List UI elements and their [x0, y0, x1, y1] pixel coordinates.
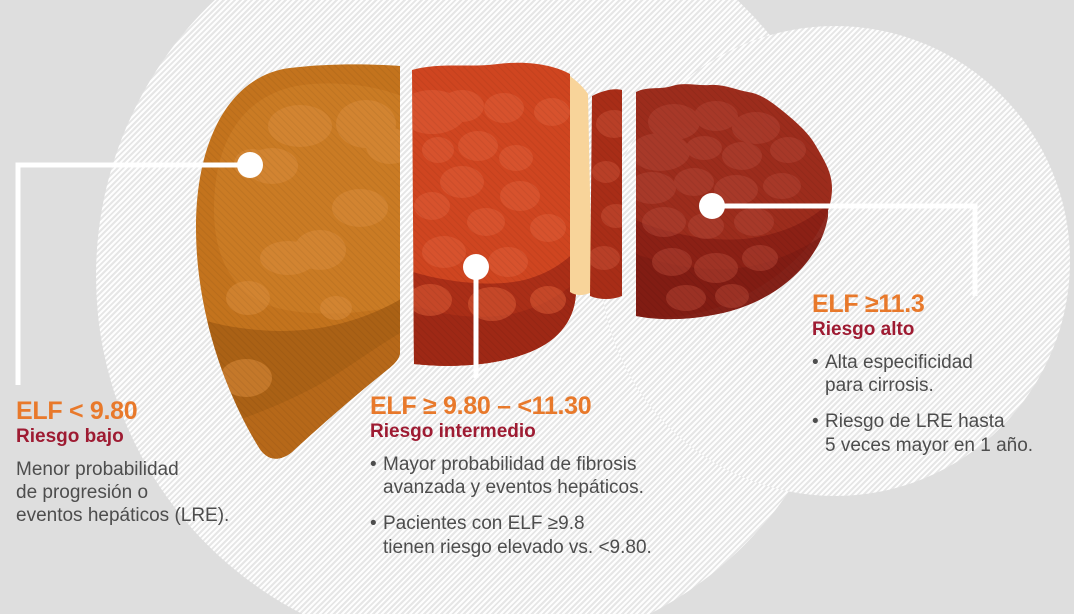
bullet-marker-icon: • — [370, 453, 383, 499]
elf-threshold-high: ELF ≥11.3 — [812, 291, 1033, 317]
infographic-canvas: ELF < 9.80 Riesgo bajo Menor probabilida… — [0, 0, 1074, 614]
list-item-line: para cirrosis. — [825, 374, 973, 397]
risk-label-high: Riesgo alto — [812, 318, 1033, 342]
callout-bullets-intermediate: • Mayor probabilidad de fibrosis avanzad… — [370, 453, 652, 559]
risk-label-intermediate: Riesgo intermedio — [370, 420, 652, 444]
list-item-line: 5 veces mayor en 1 año. — [825, 434, 1033, 457]
callout-body-low-line-2: de progresión o — [16, 482, 148, 503]
list-item: • Riesgo de LRE hasta 5 veces mayor en 1… — [812, 410, 1033, 456]
list-item-text: Alta especificidad para cirrosis. — [825, 351, 973, 397]
liver-segment-intermediate-strip — [585, 80, 632, 310]
list-item: • Alta especificidad para cirrosis. — [812, 351, 1033, 397]
callout-body-low: Menor probabilidad de progresión o event… — [16, 458, 229, 528]
elf-threshold-low: ELF < 9.80 — [16, 398, 229, 424]
callout-high-risk: ELF ≥11.3 Riesgo alto • Alta especificid… — [812, 291, 1033, 457]
callout-body-low-line-1: Menor probabilidad — [16, 459, 179, 480]
list-item-text: Riesgo de LRE hasta 5 veces mayor en 1 a… — [825, 410, 1033, 456]
callout-low-risk: ELF < 9.80 Riesgo bajo Menor probabilida… — [16, 398, 229, 528]
bullet-marker-icon: • — [370, 512, 383, 558]
list-item-line: tienen riesgo elevado vs. <9.80. — [383, 536, 652, 559]
callout-body-low-line-3: eventos hepáticos (LRE). — [16, 505, 229, 526]
callout-bullets-high: • Alta especificidad para cirrosis. • Ri… — [812, 351, 1033, 457]
list-item-text: Pacientes con ELF ≥9.8 tienen riesgo ele… — [383, 512, 652, 558]
list-item: • Mayor probabilidad de fibrosis avanzad… — [370, 453, 652, 499]
list-item-text: Mayor probabilidad de fibrosis avanzada … — [383, 453, 644, 499]
list-item-line: Riesgo de LRE hasta — [825, 410, 1033, 433]
liver-segment-divider-sliver — [570, 76, 592, 295]
liver-segment-intermediate-risk — [398, 50, 600, 450]
list-item-line: Alta especificidad — [825, 351, 973, 374]
list-item: • Pacientes con ELF ≥9.8 tienen riesgo e… — [370, 512, 652, 558]
list-item-line: Mayor probabilidad de fibrosis — [383, 453, 644, 476]
bullet-marker-icon: • — [812, 351, 825, 397]
list-item-line: avanzada y eventos hepáticos. — [383, 476, 644, 499]
elf-threshold-intermediate: ELF ≥ 9.80 – <11.30 — [370, 393, 652, 419]
risk-label-low: Riesgo bajo — [16, 425, 229, 449]
callout-intermediate-risk: ELF ≥ 9.80 – <11.30 Riesgo intermedio • … — [370, 393, 652, 559]
bullet-marker-icon: • — [812, 410, 825, 456]
list-item-line: Pacientes con ELF ≥9.8 — [383, 512, 652, 535]
